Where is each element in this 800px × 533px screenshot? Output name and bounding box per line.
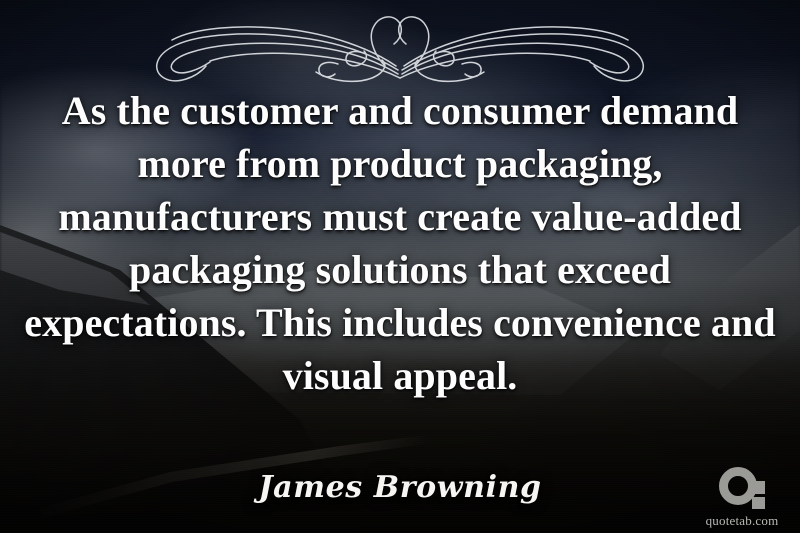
quotetab-q-logo-icon xyxy=(719,467,765,511)
flourish-divider-icon xyxy=(80,8,720,90)
author-name[interactable]: James Browning xyxy=(258,470,541,505)
logo-tail xyxy=(752,497,765,509)
quote-text: As the customer and consumer demand more… xyxy=(22,84,778,402)
quote-card: As the customer and consumer demand more… xyxy=(0,0,800,533)
brand-watermark[interactable]: quotetab.com xyxy=(694,467,790,529)
quote-block: As the customer and consumer demand more… xyxy=(22,84,778,402)
brand-site-label: quotetab.com xyxy=(694,513,790,529)
author-attribution: James Browning xyxy=(0,470,800,505)
logo-stem xyxy=(752,481,765,494)
